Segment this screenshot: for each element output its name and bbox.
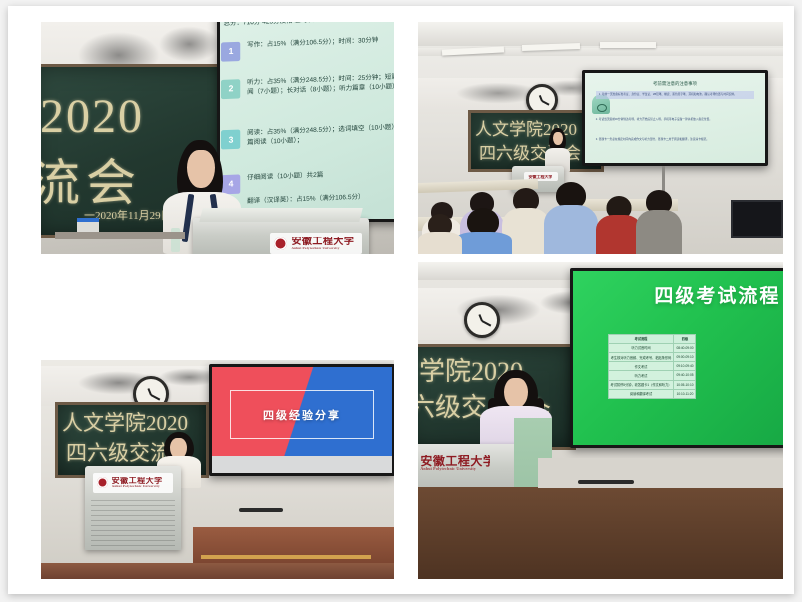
- projection-screen-frame: 四级经验分享: [209, 364, 394, 476]
- podium-top-surface: [199, 208, 362, 222]
- stage-edge: [201, 555, 371, 559]
- table-cell-time: 10:05-10:10: [674, 380, 696, 389]
- light-fixture: [600, 42, 656, 48]
- table-cell-step: 作文考试: [608, 362, 674, 371]
- blackboard-line-1: 2020: [41, 89, 144, 144]
- wall-baseboard: [538, 458, 783, 488]
- slide-paragraph-3: 3. 答题卡一务必在规定时间内完成作文与听力部分，答题卡二用于阅读和翻译，注意涂…: [596, 138, 754, 142]
- slide-item-text: 阅读：占35%（满分248.5分）；选词填空（10小题）；长篇阅读（10小题）；: [247, 123, 394, 148]
- slide-title-box: 四级经验分享: [230, 390, 374, 439]
- wall-clock: [464, 302, 500, 338]
- table-row: 听力考试 09:40-10:05: [608, 371, 696, 380]
- projection-screen-frame: 总分：710分 425分及格 总时长：125分钟（六级130分钟） 1 写作：占…: [217, 22, 394, 222]
- slide-footer-bar: [212, 456, 392, 473]
- projection-screen: 总分：710分 425分及格 总时长：125分钟（六级130分钟） 1 写作：占…: [220, 22, 394, 219]
- table-row: 作文考试 09:10-09:40: [608, 362, 696, 371]
- podium-nameplate: 安徽工程大学 Anhui Polytechnic University: [93, 473, 174, 493]
- table-cell-step: 阅读和翻译考试: [608, 389, 674, 398]
- podium-vents: [91, 500, 176, 547]
- torso: [418, 232, 462, 254]
- speaker-face: [504, 378, 528, 408]
- slide-item-text: 写作：占15%（满分106.5分）；时间：30分钟: [247, 36, 378, 50]
- table-header-cell: 四级: [674, 334, 696, 343]
- cable: [239, 508, 283, 512]
- podium-nameplate: 安徽工程大学 Anhui Polytechnic University: [418, 451, 494, 475]
- photo-bottom-right[interactable]: 学院2020 六级交 会 四级考试流程 考试流程 四级: [418, 262, 783, 579]
- university-name: 安徽工程大学 Anhui Polytechnic University: [112, 477, 163, 488]
- table-row: 阅读和翻译考试 10:10-11:20: [608, 389, 696, 398]
- university-name: 安徽工程大学 Anhui Polytechnic University: [291, 237, 354, 250]
- slide-item-4: 4 仔细阅读（10小题）共2篇: [221, 167, 394, 193]
- slide-extra-text: 翻译（汉译英）：占15%（满分106.5分）: [247, 193, 364, 207]
- podium-nameplate: 安徽工程大学 Anhui Polytechnic University: [270, 233, 362, 254]
- podium: 安徽工程大学 Anhui Polytechnic University: [85, 466, 181, 550]
- table-header-cell: 考试流程: [608, 334, 674, 343]
- slide-header: 总分：710分 425分及格 总时长：125分钟（六级130分钟）: [223, 22, 394, 28]
- exam-schedule-table: 考试流程 四级 听力试音时间 08:40-09:00 考生核: [608, 334, 697, 399]
- monitor: [731, 200, 783, 238]
- slide-title: 四级考试流程: [654, 281, 780, 308]
- collage-card: 2020 流会 一2020年11月29日 总分：710分 425分及格 总时长：…: [8, 6, 794, 594]
- table-cell-time: 08:40-09:00: [674, 343, 696, 352]
- cable: [578, 480, 634, 484]
- slide-paragraph-2: 2. 考试当天提前30分钟到达考场，听力开始后禁止入场，手机等电子设备一律关机放…: [596, 118, 754, 122]
- table-cell-step: 考试暂停5分钟，收答题卡1（作文和听力）: [608, 380, 674, 389]
- projection-screen: 四级考试流程 考试流程 四级 听力试音时间: [573, 271, 783, 445]
- audience-member: [454, 208, 512, 254]
- stage-platform: [193, 527, 394, 565]
- projection-screen: 四级经验分享: [212, 367, 392, 473]
- table-row: 考试暂停5分钟，收答题卡1（作文和听力） 10:05-10:10: [608, 380, 696, 389]
- projection-screen-frame: 四级考试流程 考试流程 四级 听力试音时间: [570, 268, 783, 448]
- university-name-en: Anhui Polytechnic University: [291, 247, 354, 250]
- slide-title: 四级经验分享: [263, 407, 341, 423]
- speaker-face: [553, 132, 563, 145]
- photo-top-left[interactable]: 2020 流会 一2020年11月29日 总分：710分 425分及格 总时长：…: [41, 22, 394, 254]
- blackboard-line-2: 流会: [41, 143, 142, 215]
- table-cell-time: 09:00-09:10: [674, 353, 696, 362]
- audience: [418, 147, 783, 254]
- blackboard-line-2: 六级交: [418, 387, 487, 424]
- floor: [418, 487, 783, 579]
- torso: [454, 232, 512, 254]
- slide-item-3: 3 阅读：占35%（满分248.5分）；选词填空（10小题）；长篇阅读（10小题…: [221, 123, 394, 149]
- table-cell-time: 09:10-09:40: [674, 362, 696, 371]
- table-cell-step: 听力考试: [608, 371, 674, 380]
- slide-paragraph-1: 1. 考前一天准备好准考证、身份证、学生证、2B铅笔、橡皮、黑色签字笔、耳机和电…: [596, 91, 754, 99]
- audience-member: [544, 182, 598, 254]
- slide-exam-structure: 总分：710分 425分及格 总时长：125分钟（六级130分钟） 1 写作：占…: [220, 22, 394, 219]
- slide-cet4-experience: 四级经验分享: [212, 367, 392, 473]
- chalk-tray: [55, 232, 185, 239]
- audience-member: [636, 190, 682, 254]
- table-cell-time: 10:10-11:20: [674, 389, 696, 398]
- table-cell-time: 09:40-10:05: [674, 371, 696, 380]
- slide-item-number: 2: [221, 79, 240, 99]
- slide-item-text: 听力：占35%（满分248.5分）；时间：25分钟；短篇新闻（7小题）；长对话（…: [247, 73, 394, 98]
- university-seal-icon: [274, 237, 287, 250]
- table-cell-step: 考生核对听力音频、完成考号、粘贴条形码: [608, 353, 674, 362]
- university-seal-icon: [97, 477, 108, 488]
- slide-cet4-process: 四级考试流程 考试流程 四级 听力试音时间: [573, 271, 783, 445]
- photo-top-right[interactable]: 人文学院2020 四六级交流会 考前需注意的注意事项 1. 考前一天准备好准考证…: [418, 22, 783, 254]
- university-name-en: Anhui Polytechnic University: [112, 485, 163, 488]
- podium: 安徽工程大学 Anhui Polytechnic University: [193, 218, 369, 254]
- table-header-row: 考试流程 四级: [608, 334, 696, 343]
- university-name: 安徽工程大学 Anhui Polytechnic University: [420, 455, 490, 471]
- photo-bottom-left[interactable]: 人文学院2020 四六级交流会 四级经验分享: [41, 360, 394, 579]
- photo-collage: 2020 流会 一2020年11月29日 总分：710分 425分及格 总时长：…: [8, 6, 794, 594]
- torso: [636, 210, 682, 254]
- torso: [544, 205, 598, 254]
- slide-item-2: 2 听力：占35%（满分248.5分）；时间：25分钟；短篇新闻（7小题）；长对…: [221, 73, 394, 99]
- table-row: 听力试音时间 08:40-09:00: [608, 343, 696, 352]
- speaker-face: [187, 150, 215, 188]
- floor: [41, 563, 394, 579]
- audience-member: [418, 214, 462, 254]
- slide-item-text: 仔细阅读（10小题）共2篇: [247, 171, 323, 183]
- slide-title: 考前需注意的注意事项: [585, 81, 765, 87]
- table-cell-step: 听力试音时间: [608, 343, 674, 352]
- slide-item-number: 1: [221, 42, 240, 62]
- slide-item-1: 1 写作：占15%（满分106.5分）；时间：30分钟: [221, 35, 394, 61]
- table-row: 考生核对听力音频、完成考号、粘贴条形码 09:00-09:10: [608, 353, 696, 362]
